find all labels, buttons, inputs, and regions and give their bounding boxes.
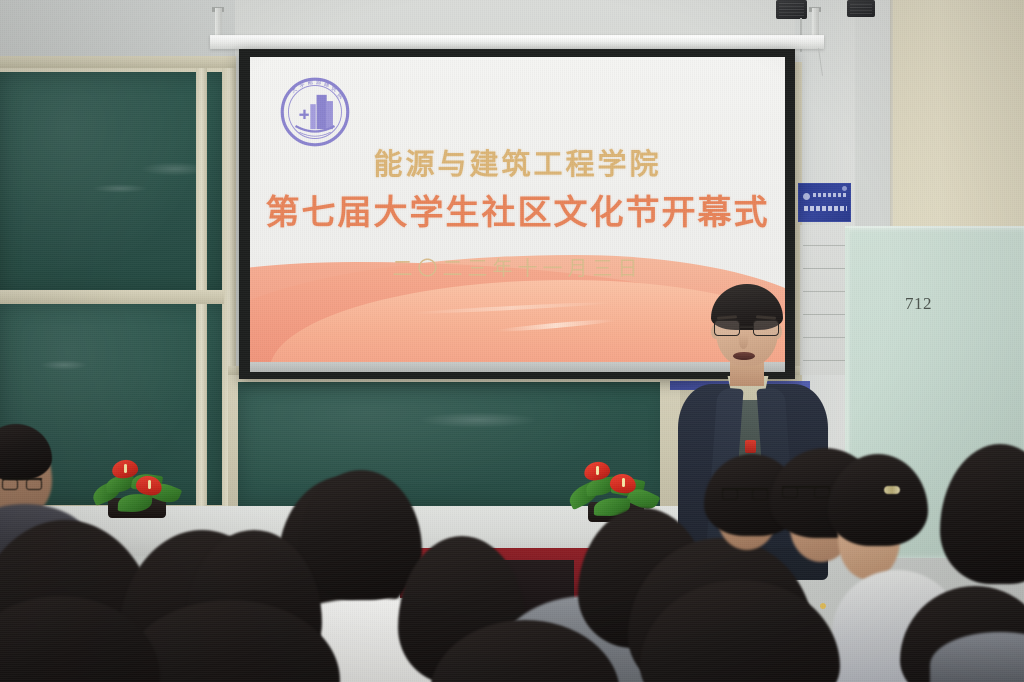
speaker-grill xyxy=(779,3,804,16)
eyeglass-lens-left xyxy=(714,320,740,336)
anthurium-spadix xyxy=(596,466,599,475)
chalk-smudge xyxy=(418,412,538,428)
notice-line xyxy=(803,268,845,269)
red-anthurium-arrangement-left xyxy=(88,452,188,522)
classroom-photo-scene: 大 学 能 源 建 筑 院 能源与建筑工程学院 第七届大学生社区文化节开幕式 二… xyxy=(0,0,1024,682)
anthurium-spadix xyxy=(148,480,151,489)
ceiling-speaker-right-icon xyxy=(847,0,875,17)
presenter-red-badge-pin xyxy=(745,440,756,453)
sign-emblem-icon xyxy=(803,193,810,200)
svg-text:大: 大 xyxy=(289,85,299,95)
chalk-smudge xyxy=(92,184,148,193)
university-seal-logo: 大 学 能 源 建 筑 院 xyxy=(276,73,354,151)
board-rail-top xyxy=(0,56,236,68)
screen-bracket-right xyxy=(812,8,819,38)
presenter-nose xyxy=(739,334,748,349)
sign-text-line xyxy=(804,206,847,211)
speaker-grill xyxy=(850,3,872,14)
slide-date-line: 二〇二三年十一月三日 xyxy=(250,252,785,281)
student-eyeglasses-icon xyxy=(722,488,768,497)
sign-corner-dot-icon xyxy=(842,186,847,191)
chalkboard-panel-left-upper xyxy=(0,72,224,294)
screen-bracket-left xyxy=(215,8,222,38)
student-eyeglasses-icon xyxy=(2,478,42,487)
slide-title-line-2: 第七届大学生社区文化节开幕式 xyxy=(250,185,785,234)
eyeglass-bridge xyxy=(740,326,753,328)
room-number-label: 712 xyxy=(905,294,932,314)
badge-emblem-icon xyxy=(820,603,826,609)
anthurium-spadix xyxy=(622,478,625,487)
ceiling-speaker-left-icon xyxy=(776,0,807,19)
sign-text-line xyxy=(813,193,846,197)
roller-label xyxy=(740,37,776,45)
board-rail-horizontal xyxy=(0,290,224,304)
notice-line xyxy=(803,245,845,246)
beige-structural-column xyxy=(893,0,1024,240)
wall-mounted-blue-notice-sign xyxy=(798,183,851,222)
student-eyeglasses-icon xyxy=(782,486,830,495)
eyeglass-lens-right xyxy=(753,320,779,336)
chalk-smudge xyxy=(40,360,88,370)
presenter-mouth xyxy=(733,352,755,360)
wall-upper-left xyxy=(0,0,235,60)
anthurium-spadix xyxy=(124,464,127,473)
slide-title-line-1: 能源与建筑工程学院 xyxy=(250,141,785,183)
projector-screen-roller-casing xyxy=(210,35,824,49)
hair-clip-accessory xyxy=(884,486,900,494)
